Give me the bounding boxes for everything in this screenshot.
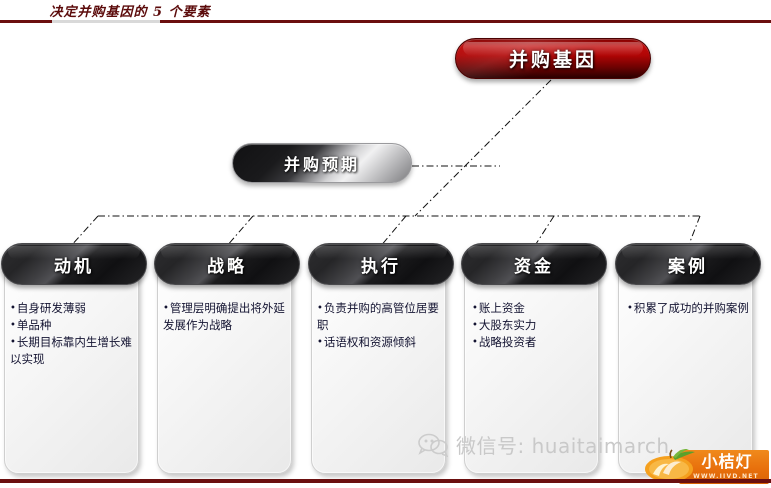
bullet-item: 战略投资者 xyxy=(472,334,603,351)
card-header-label-4: 案例 xyxy=(668,252,708,277)
slide-canvas: 决定并购基因的 5 个要素 并购基因 并购预期 动机 xyxy=(0,0,771,488)
watermark: 微信号: huaitaimarch xyxy=(418,430,670,459)
bullet-item: 大股东实力 xyxy=(472,317,603,334)
card-bullets-2: 负责并购的高管位居要职话语权和资源倾斜 xyxy=(317,300,448,351)
card-bullets-1: 管理层明确提出将外延发展作为战略 xyxy=(163,300,294,334)
bullet-item: 自身研发薄弱 xyxy=(10,300,141,317)
card-bullets-3: 账上资金大股东实力战略投资者 xyxy=(472,300,603,351)
page-title: 决定并购基因的 5 个要素 xyxy=(0,1,260,20)
node-mid[interactable]: 并购预期 xyxy=(232,143,412,183)
card-bullets-4: 积累了成功的并购案例 xyxy=(627,300,758,317)
node-root-label: 并购基因 xyxy=(509,45,597,72)
logo-name: 小桔灯 xyxy=(687,451,767,472)
bullet-item: 长期目标靠内生增长难以实现 xyxy=(10,334,141,368)
card-bullets-0: 自身研发薄弱单品种长期目标靠内生增长难以实现 xyxy=(10,300,141,368)
node-root[interactable]: 并购基因 xyxy=(455,38,651,79)
bullet-item: 话语权和资源倾斜 xyxy=(317,334,448,351)
card-header-label-2: 执行 xyxy=(361,252,401,277)
bullet-item: 单品种 xyxy=(10,317,141,334)
node-mid-label: 并购预期 xyxy=(284,151,360,175)
title-divider-highlight xyxy=(52,20,160,23)
card-header-0[interactable]: 动机 xyxy=(1,243,147,285)
bullet-item: 负责并购的高管位居要职 xyxy=(317,300,448,334)
bullet-item: 账上资金 xyxy=(472,300,603,317)
card-header-label-3: 资金 xyxy=(514,252,554,277)
card-header-label-0: 动机 xyxy=(54,252,94,277)
bullet-item: 积累了成功的并购案例 xyxy=(627,300,758,317)
connector-root-to-bus xyxy=(415,80,551,216)
bottom-divider xyxy=(0,479,771,483)
card-header-label-1: 战略 xyxy=(207,252,247,277)
card-header-2[interactable]: 执行 xyxy=(308,243,454,285)
watermark-text: 微信号: huaitaimarch xyxy=(456,430,670,459)
bullet-item: 管理层明确提出将外延发展作为战略 xyxy=(163,300,294,334)
wechat-icon xyxy=(418,433,448,457)
card-header-3[interactable]: 资金 xyxy=(461,243,607,285)
card-header-4[interactable]: 案例 xyxy=(615,243,761,285)
card-header-1[interactable]: 战略 xyxy=(154,243,300,285)
card-body-1 xyxy=(157,252,292,474)
